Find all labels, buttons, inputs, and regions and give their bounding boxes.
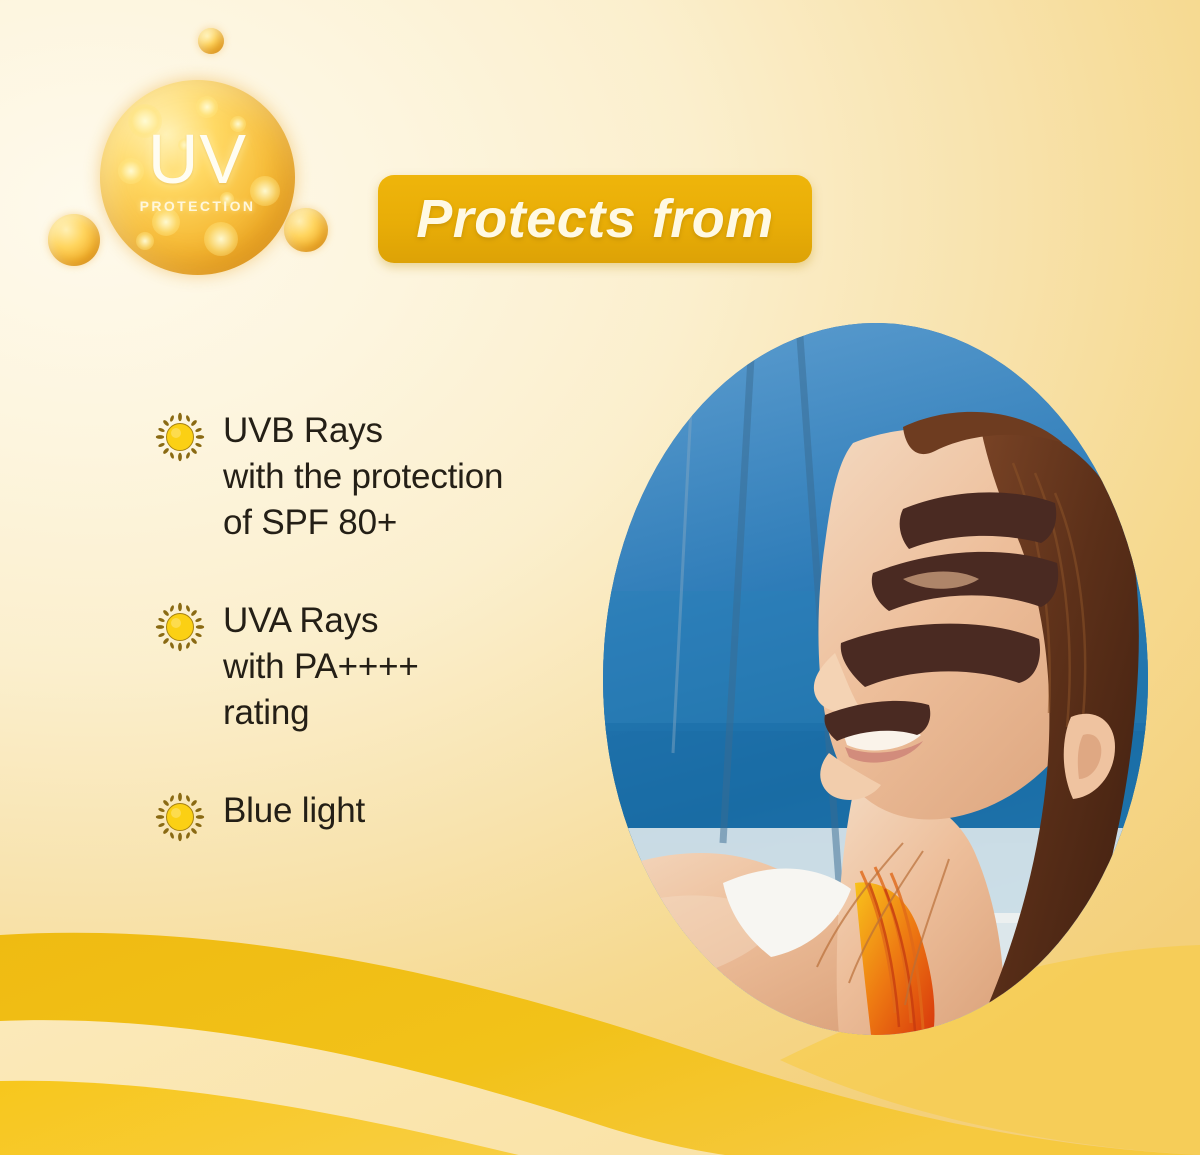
list-item-text: UVB Rays with the protection of SPF 80+ [223,408,503,546]
protection-list: UVB Rays with the protection of SPF 80+ [155,408,625,842]
logo-protection-text: PROTECTION [100,198,295,214]
logo-bubble-left [48,214,100,266]
banner-title: Protects from [416,188,774,250]
sun-icon [155,602,205,652]
list-item: Blue light [155,788,625,842]
list-item: UVA Rays with PA++++ rating [155,598,625,736]
list-item-line: UVA Rays [223,598,419,644]
list-item: UVB Rays with the protection of SPF 80+ [155,408,625,546]
list-item-line: with PA++++ [223,644,419,690]
logo-sphere: UV PROTECTION [100,80,295,275]
list-item-line: of SPF 80+ [223,500,503,546]
logo-bubble-small-top [198,28,224,54]
sun-icon [155,412,205,462]
list-item-line: Blue light [223,788,365,834]
logo-uv-text: UV [100,124,295,194]
list-item-text: UVA Rays with PA++++ rating [223,598,419,736]
list-item-text: Blue light [223,788,365,834]
uv-protection-poster: UV PROTECTION Protects from [0,0,1200,1155]
uv-protection-logo: UV PROTECTION [38,28,328,293]
list-item-line: UVB Rays [223,408,503,454]
logo-bubble-right [284,208,328,252]
protects-from-banner: Protects from [378,175,812,263]
list-item-line: with the protection [223,454,503,500]
list-item-line: rating [223,690,419,736]
sun-icon [155,792,205,842]
woman-sunbathing-photo [603,323,1148,1035]
photo-illustration [603,323,1148,1035]
